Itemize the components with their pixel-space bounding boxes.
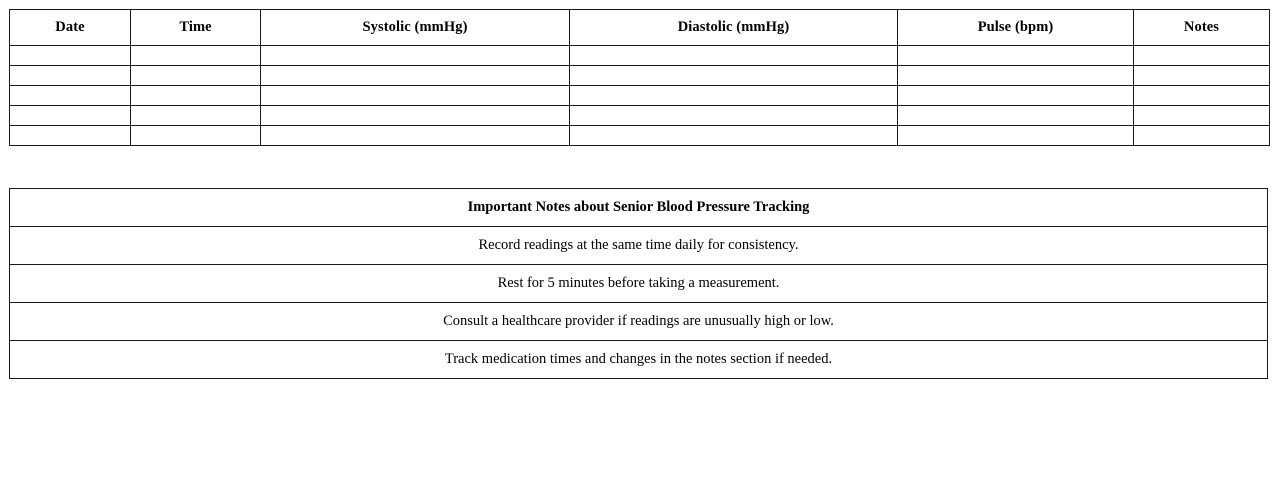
- column-header-systolic: Systolic (mmHg): [261, 10, 570, 46]
- cell-diastolic[interactable]: [570, 66, 898, 86]
- blood-pressure-readings-table: Date Time Systolic (mmHg) Diastolic (mmH…: [9, 9, 1270, 146]
- cell-date[interactable]: [10, 46, 131, 66]
- table-row: [10, 106, 1270, 126]
- important-notes-container: Important Notes about Senior Blood Press…: [9, 188, 1268, 379]
- important-notes-title: Important Notes about Senior Blood Press…: [10, 189, 1268, 227]
- table-row: [10, 126, 1270, 146]
- cell-systolic[interactable]: [261, 86, 570, 106]
- table-row: [10, 66, 1270, 86]
- cell-diastolic[interactable]: [570, 106, 898, 126]
- note-item-1: Record readings at the same time daily f…: [10, 227, 1268, 265]
- readings-table-body: [10, 46, 1270, 146]
- cell-notes[interactable]: [1134, 106, 1270, 126]
- list-item: Record readings at the same time daily f…: [10, 227, 1268, 265]
- table-row: [10, 86, 1270, 106]
- cell-notes[interactable]: [1134, 46, 1270, 66]
- cell-pulse[interactable]: [898, 66, 1134, 86]
- list-item: Consult a healthcare provider if reading…: [10, 303, 1268, 341]
- cell-pulse[interactable]: [898, 86, 1134, 106]
- notes-title-row: Important Notes about Senior Blood Press…: [10, 189, 1268, 227]
- cell-time[interactable]: [131, 46, 261, 66]
- readings-table-header: Date Time Systolic (mmHg) Diastolic (mmH…: [10, 10, 1270, 46]
- cell-pulse[interactable]: [898, 106, 1134, 126]
- column-header-date: Date: [10, 10, 131, 46]
- cell-time[interactable]: [131, 66, 261, 86]
- note-item-3: Consult a healthcare provider if reading…: [10, 303, 1268, 341]
- important-notes-table: Important Notes about Senior Blood Press…: [9, 188, 1268, 379]
- list-item: Track medication times and changes in th…: [10, 341, 1268, 379]
- cell-systolic[interactable]: [261, 46, 570, 66]
- column-header-notes: Notes: [1134, 10, 1270, 46]
- cell-date[interactable]: [10, 126, 131, 146]
- readings-table-container: Date Time Systolic (mmHg) Diastolic (mmH…: [9, 9, 1269, 146]
- cell-time[interactable]: [131, 86, 261, 106]
- cell-notes[interactable]: [1134, 66, 1270, 86]
- cell-time[interactable]: [131, 106, 261, 126]
- cell-systolic[interactable]: [261, 126, 570, 146]
- header-row: Date Time Systolic (mmHg) Diastolic (mmH…: [10, 10, 1270, 46]
- table-row: [10, 46, 1270, 66]
- column-header-diastolic: Diastolic (mmHg): [570, 10, 898, 46]
- cell-systolic[interactable]: [261, 106, 570, 126]
- cell-notes[interactable]: [1134, 126, 1270, 146]
- important-notes-body: Important Notes about Senior Blood Press…: [10, 189, 1268, 379]
- column-header-time: Time: [131, 10, 261, 46]
- note-item-2: Rest for 5 minutes before taking a measu…: [10, 265, 1268, 303]
- cell-time[interactable]: [131, 126, 261, 146]
- cell-date[interactable]: [10, 66, 131, 86]
- cell-systolic[interactable]: [261, 66, 570, 86]
- list-item: Rest for 5 minutes before taking a measu…: [10, 265, 1268, 303]
- cell-diastolic[interactable]: [570, 126, 898, 146]
- cell-date[interactable]: [10, 106, 131, 126]
- cell-pulse[interactable]: [898, 126, 1134, 146]
- column-header-pulse: Pulse (bpm): [898, 10, 1134, 46]
- cell-notes[interactable]: [1134, 86, 1270, 106]
- cell-diastolic[interactable]: [570, 46, 898, 66]
- cell-date[interactable]: [10, 86, 131, 106]
- cell-diastolic[interactable]: [570, 86, 898, 106]
- cell-pulse[interactable]: [898, 46, 1134, 66]
- document-page: Date Time Systolic (mmHg) Diastolic (mmH…: [0, 0, 1278, 501]
- note-item-4: Track medication times and changes in th…: [10, 341, 1268, 379]
